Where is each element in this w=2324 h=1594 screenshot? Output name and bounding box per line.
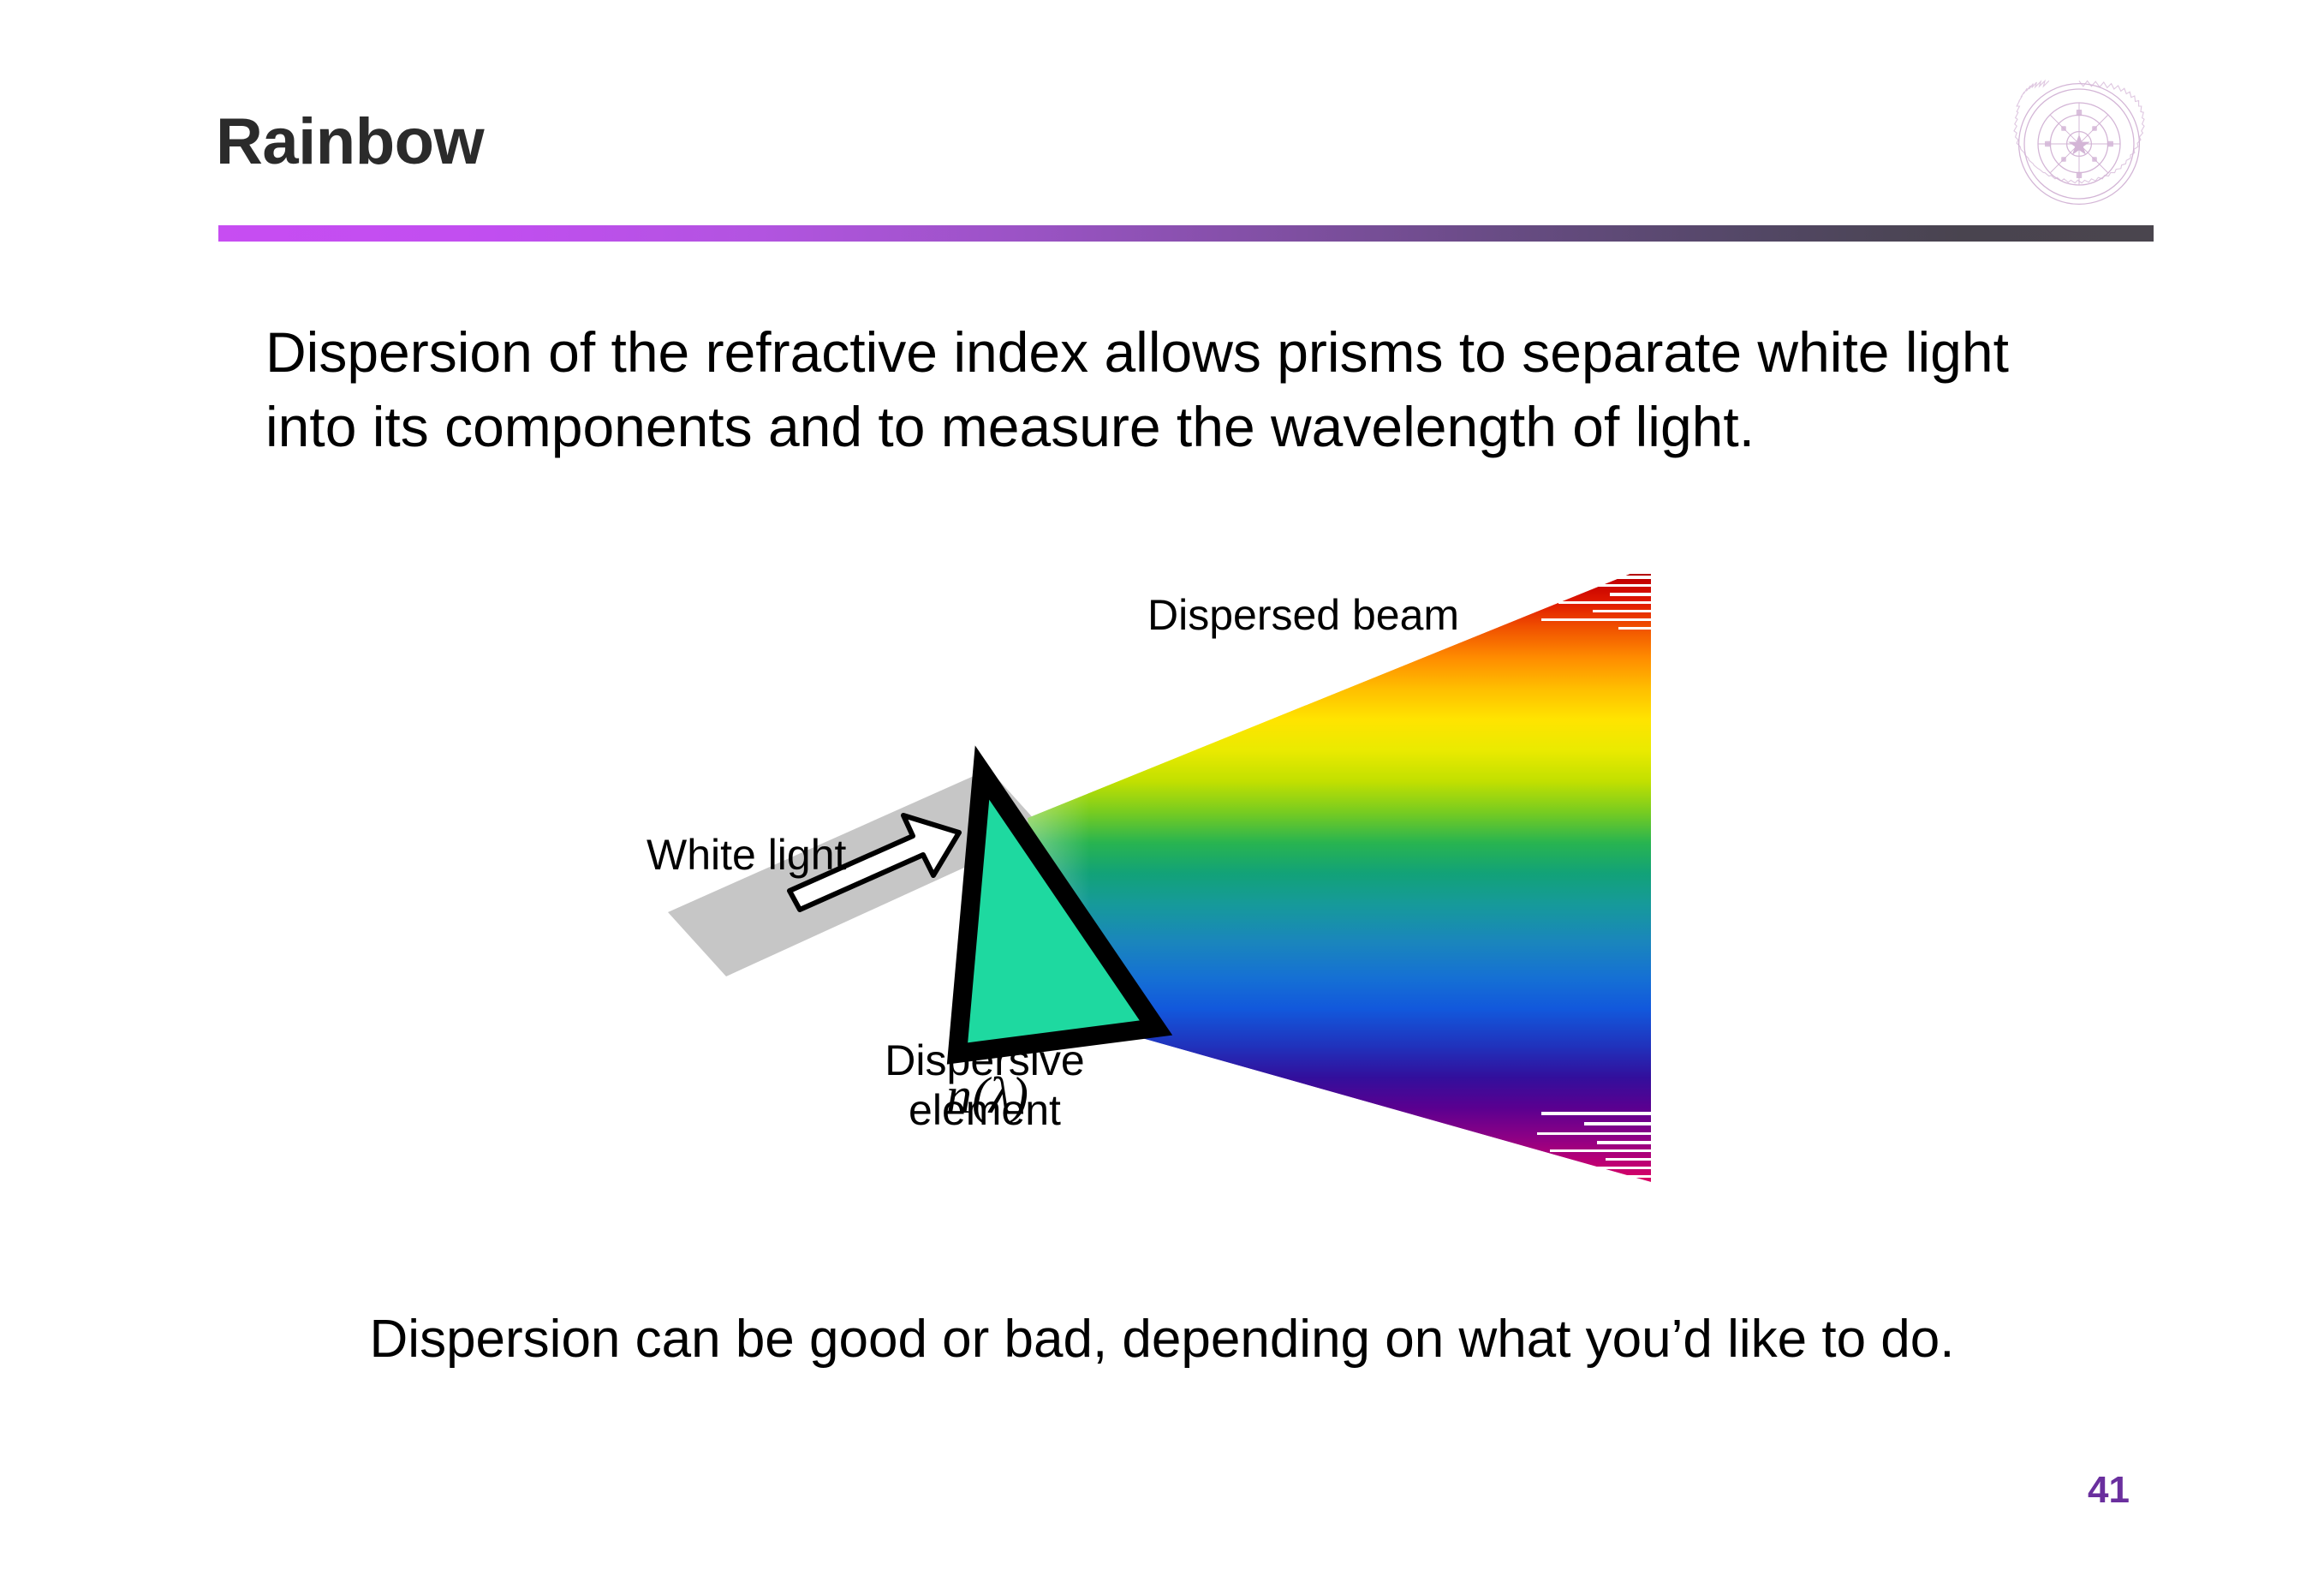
page-title: Rainbow <box>216 110 484 175</box>
label-white-light: White light <box>647 831 846 881</box>
dispersion-illustration <box>599 574 1713 1191</box>
university-seal-icon <box>2011 75 2148 212</box>
caption: Dispersion can be good or bad, depending… <box>0 1309 2324 1370</box>
dispersion-diagram: Dispersed beam White light Dispersive el… <box>599 574 1713 1191</box>
page-number: 41 <box>2088 1469 2130 1512</box>
label-dispersive-element: Dispersive element <box>848 1036 1122 1135</box>
label-dispersed-beam: Dispersed beam <box>1147 591 1459 641</box>
title-divider <box>218 225 2154 242</box>
body-paragraph: Dispersion of the refractive index allow… <box>265 315 2012 464</box>
